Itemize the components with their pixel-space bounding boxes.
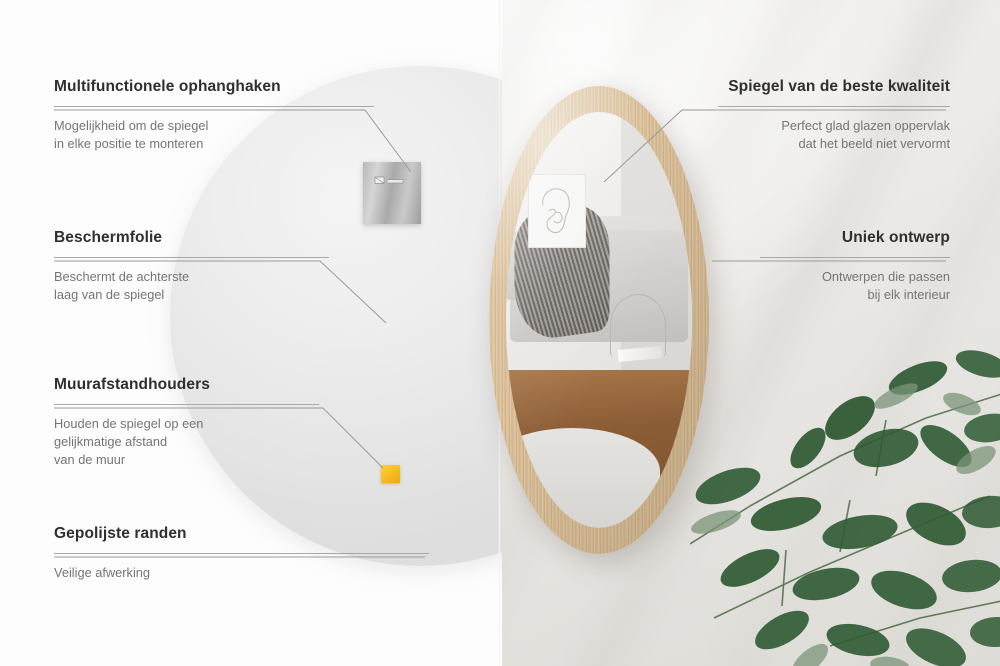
callout-body-line: Perfect glad glazen oppervlak [781,118,950,133]
callout-rule [54,553,429,554]
callout-body-line: Ontwerpen die passen [822,269,950,284]
glass-reflection-sheen [506,112,692,528]
callout-title: Uniek ontwerp [760,229,950,248]
keyhole-slot-icon [374,176,404,185]
callout-body-line: gelijkmatige afstand [54,434,167,449]
callout-body-line: van de muur [54,452,125,467]
mirror-frame-outer [489,86,709,554]
callout-uniek-ontwerp: Uniek ontwerp Ontwerpen die passen bij e… [760,229,950,304]
callout-ophanghaken: Multifunctionele ophanghaken Mogelijkhei… [54,78,374,153]
callout-body-line: laag van de spiegel [54,287,164,302]
callout-rule [54,404,319,405]
callout-rule [760,257,950,258]
callout-body-line: bij elk interieur [867,287,950,302]
callout-muurafstandhouders: Muurafstandhouders Houden de spiegel op … [54,376,319,469]
callout-rule [54,106,374,107]
callout-body-line: Mogelijkheid om de spiegel [54,118,208,133]
callout-body: Veilige afwerking [54,564,429,582]
foliage-branch-decoration [690,300,1000,666]
callout-body-line: Houden de spiegel op een [54,416,203,431]
callout-body: Houden de spiegel op een gelijkmatige af… [54,415,319,469]
callout-rule [54,257,329,258]
callout-body-line: Beschermt de achterste [54,269,189,284]
mirror-glass-surface [506,112,692,528]
hanging-plate-icon [363,162,421,224]
callout-body-line: dat het beeld niet vervormt [798,136,950,151]
callout-title: Spiegel van de beste kwaliteit [718,78,950,97]
round-mirror-product [489,86,709,554]
callout-body: Perfect glad glazen oppervlak dat het be… [718,117,950,153]
callout-body-line: Veilige afwerking [54,565,150,580]
callout-gepolijste-randen: Gepolijste randen Veilige afwerking [54,525,429,582]
callout-title: Multifunctionele ophanghaken [54,78,374,97]
callout-body: Mogelijkheid om de spiegel in elke posit… [54,117,374,153]
callout-beschermfolie: Beschermfolie Beschermt de achterste laa… [54,229,329,304]
callout-body: Ontwerpen die passen bij elk interieur [760,268,950,304]
wall-spacer-part [381,465,400,483]
callout-body-line: in elke positie te monteren [54,136,203,151]
callout-title: Gepolijste randen [54,525,429,544]
callout-kwaliteit: Spiegel van de beste kwaliteit Perfect g… [718,78,950,153]
callout-rule [718,106,950,107]
callout-title: Beschermfolie [54,229,329,248]
infographic-canvas: Multifunctionele ophanghaken Mogelijkhei… [0,0,1000,666]
callout-title: Muurafstandhouders [54,376,319,395]
callout-body: Beschermt de achterste laag van de spieg… [54,268,329,304]
